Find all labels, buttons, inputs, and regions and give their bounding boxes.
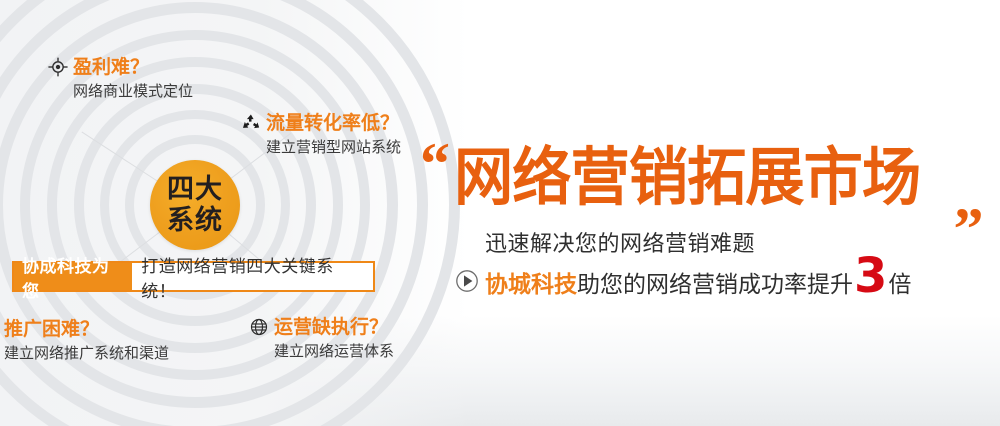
hero-subline-2-text: 助您的网络营销成功率提升 <box>577 271 853 299</box>
hero-subline-2-number: 3 <box>853 262 888 290</box>
problem-item-profit-title: 盈利难？ <box>73 56 149 78</box>
recycle-icon <box>241 113 261 133</box>
problem-item-traffic[interactable]: 流量转化率低？ 建立营销型网站系统 <box>241 112 401 157</box>
marketing-banner: 四大 系统 盈利难？ 网络商业模式定位 <box>0 0 1000 426</box>
problem-item-traffic-head: 流量转化率低？ <box>241 112 401 134</box>
problem-item-operations[interactable]: 运营缺执行？ 建立网络运营体系 <box>249 316 394 361</box>
crosshair-target-icon <box>48 57 68 77</box>
problem-item-promotion-title: 推广困难？ <box>4 318 99 340</box>
problem-item-profit-head: 盈利难？ <box>48 56 193 78</box>
problem-item-profit-subtitle: 网络商业模式定位 <box>73 81 193 101</box>
core-circle: 四大 系统 <box>150 160 240 250</box>
hero-subline-2-brand: 协城科技 <box>485 271 577 299</box>
problem-item-promotion-subtitle: 建立网络推广系统和渠道 <box>4 343 169 363</box>
play-circle-icon <box>455 269 479 293</box>
hero-subline-1: 迅速解决您的网络营销难题 <box>485 232 755 258</box>
core-circle-line2: 系统 <box>167 207 223 234</box>
hero-subline-2: 协城科技 助您的网络营销成功率提升 3 倍 <box>455 262 911 299</box>
problem-item-promotion-head: 推广困难？ <box>4 318 169 340</box>
quote-open-icon: “ <box>420 134 450 194</box>
problem-item-traffic-subtitle: 建立营销型网站系统 <box>266 137 401 157</box>
problem-item-operations-subtitle: 建立网络运营体系 <box>274 341 394 361</box>
hero-headline-block: “ 网络营销拓展市场 „ <box>418 140 1000 240</box>
tagline-strip-left-label: 协成科技为您 <box>14 263 132 290</box>
core-circle-line1: 四大 <box>167 176 223 203</box>
problem-item-operations-title: 运营缺执行？ <box>274 316 388 338</box>
hero-subline-2-unit: 倍 <box>888 271 911 299</box>
quote-close-icon: „ <box>954 168 984 228</box>
problem-item-operations-head: 运营缺执行？ <box>249 316 394 338</box>
tagline-strip-right-label: 打造网络营销四大关键系统！ <box>132 263 373 290</box>
problem-item-promotion[interactable]: 推广困难？ 建立网络推广系统和渠道 <box>4 318 169 363</box>
problem-item-profit[interactable]: 盈利难？ 网络商业模式定位 <box>48 56 193 101</box>
globe-icon <box>249 317 269 337</box>
hero-headline: 网络营销拓展市场 <box>454 140 920 216</box>
problem-item-traffic-title: 流量转化率低？ <box>266 112 399 134</box>
tagline-strip: 协成科技为您 打造网络营销四大关键系统！ <box>12 261 375 292</box>
